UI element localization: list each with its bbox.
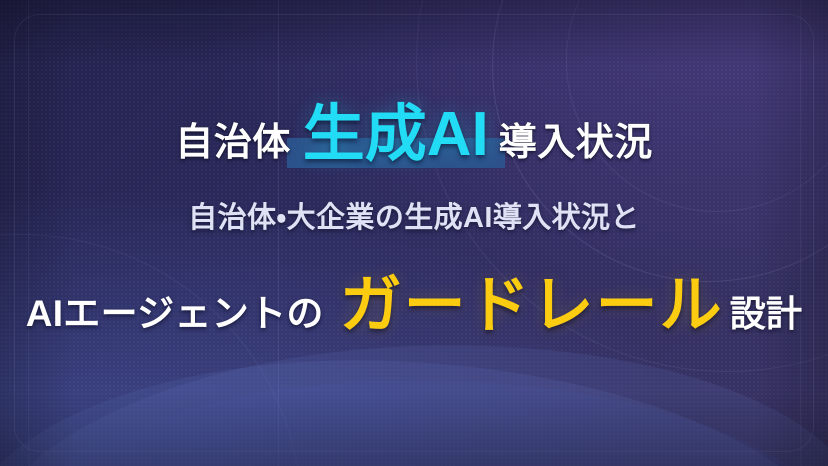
headline-suffix: 導入状況 [499, 124, 653, 162]
title-slide: 自治体 生成AI 導入状況 自治体・大企業の生成AI導入状況と AIエージェント… [0, 0, 828, 466]
bottom-line-tail: 設計 [730, 296, 803, 332]
bottom-line-accent: ガードレール [340, 275, 724, 337]
bottom-line-lead: AIエージェントの [26, 295, 324, 332]
headline-prefix: 自治体 [175, 124, 291, 162]
bottom-line: AIエージェントの ガードレール 設計 [0, 275, 828, 337]
slide-content: 自治体 生成AI 導入状況 自治体・大企業の生成AI導入状況と AIエージェント… [0, 0, 828, 466]
subtitle: 自治体・大企業の生成AI導入状況と [188, 204, 640, 233]
headline-accent: 生成AI [303, 104, 489, 166]
headline: 自治体 生成AI 導入状況 [175, 104, 653, 166]
